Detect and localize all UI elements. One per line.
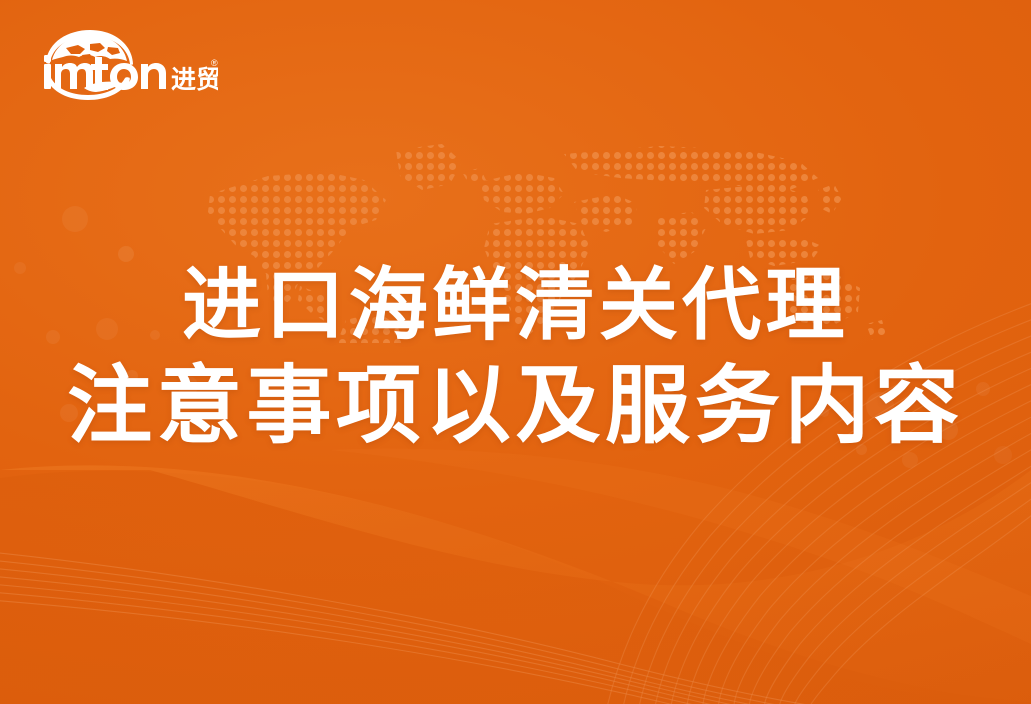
- logo-chinese-name: 进贸通 ®: [171, 58, 218, 94]
- svg-text:进贸通: 进贸通: [171, 66, 218, 94]
- headline-block: 进口海鲜清关代理 注意事项以及服务内容: [0, 258, 1031, 458]
- svg-text:®: ®: [211, 58, 218, 68]
- headline-line-2: 注意事项以及服务内容: [0, 357, 1031, 457]
- promo-banner: 进贸通 ® 进口海鲜清关代理 注意事项以及服务内容: [0, 0, 1031, 704]
- logo-wordmark: [44, 55, 166, 90]
- headline-line-1: 进口海鲜清关代理: [0, 258, 1031, 351]
- globe-arc-icon: [46, 30, 133, 65]
- brand-logo[interactable]: 进贸通 ®: [38, 28, 218, 102]
